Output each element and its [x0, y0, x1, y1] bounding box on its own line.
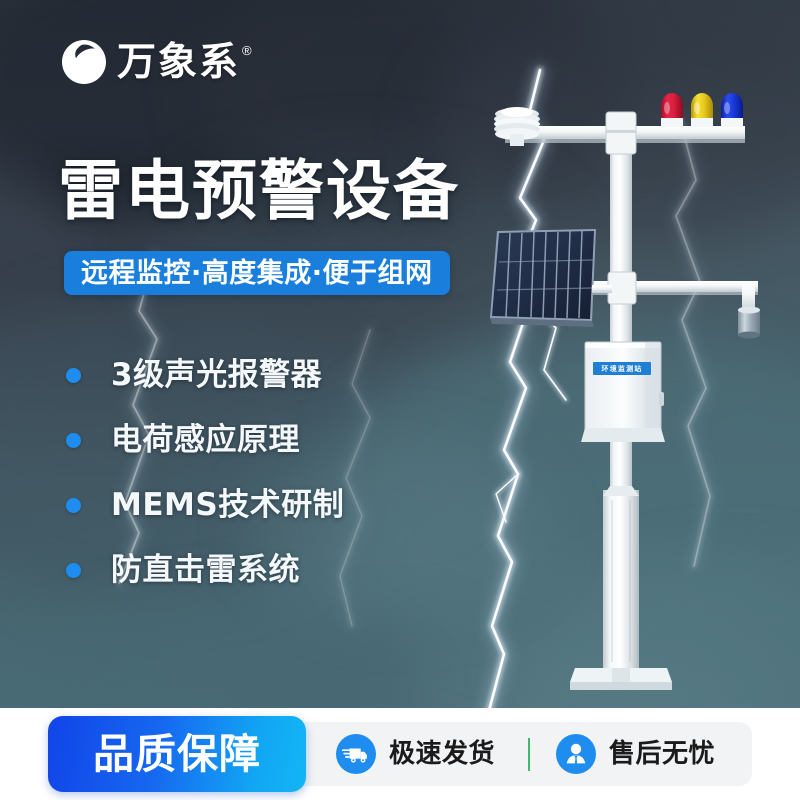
feature-badge: 远程监控·高度集成·便于组网 [64, 251, 450, 295]
brand-logo: 万象系 ® [60, 38, 252, 86]
after-sales-label: 售后无忧 [609, 741, 715, 767]
list-item: MEMS技术研制 [66, 474, 344, 536]
delivery-truck-icon [336, 734, 376, 774]
globe-swoosh-logo-icon [60, 38, 108, 86]
list-item: 电荷感应原理 [66, 409, 344, 471]
mounting-pole-lower [603, 490, 639, 670]
fast-shipping-label: 极速发货 [389, 741, 495, 767]
station-label-text: 环境监测站 [593, 363, 651, 375]
footer-trust-bar: 品质保障 极速发货 [0, 708, 800, 800]
quality-guarantee-label: 品质保障 [93, 734, 261, 775]
red-alarm-beacon [661, 93, 683, 127]
fast-shipping-item: 极速发货 [336, 734, 495, 774]
feature-badge-label: 远程监控·高度集成·便于组网 [81, 260, 433, 287]
customer-service-person-icon [556, 734, 596, 774]
control-box [581, 342, 665, 442]
solar-panel [490, 229, 612, 327]
footer-divider [528, 738, 530, 771]
list-item: 3级声光报警器 [66, 344, 344, 406]
mounting-pole [610, 128, 632, 508]
list-item-label: MEMS技术研制 [111, 490, 344, 521]
list-item-label: 防直击雷系统 [111, 555, 300, 586]
bullet-dot-icon [66, 498, 81, 513]
yellow-alarm-beacon [691, 93, 713, 127]
list-item-label: 电荷感应原理 [111, 425, 300, 456]
feature-list: 3级声光报警器 电荷感应原理 MEMS技术研制 防直击雷系统 [66, 344, 344, 604]
bullet-dot-icon [66, 368, 81, 383]
after-sales-item: 售后无忧 [556, 734, 715, 774]
alarm-beacon-group [661, 93, 743, 127]
blue-alarm-beacon [721, 93, 743, 127]
list-item-label: 3级声光报警器 [111, 360, 322, 391]
bullet-dot-icon [66, 563, 81, 578]
product-poster: 环境监测站 万象系 ® 雷电预警设备 远程监控·高度集成·便于组网 3级声光报警… [0, 0, 800, 800]
registered-trademark-icon: ® [242, 44, 252, 57]
list-item: 防直击雷系统 [66, 539, 344, 601]
rain-gauge-sensor [738, 307, 760, 339]
base-flange [570, 668, 672, 690]
brand-name: 万象系 [117, 43, 240, 82]
quality-guarantee-badge: 品质保障 [48, 716, 306, 792]
bullet-dot-icon [66, 433, 81, 448]
page-title: 雷电预警设备 [58, 158, 460, 226]
